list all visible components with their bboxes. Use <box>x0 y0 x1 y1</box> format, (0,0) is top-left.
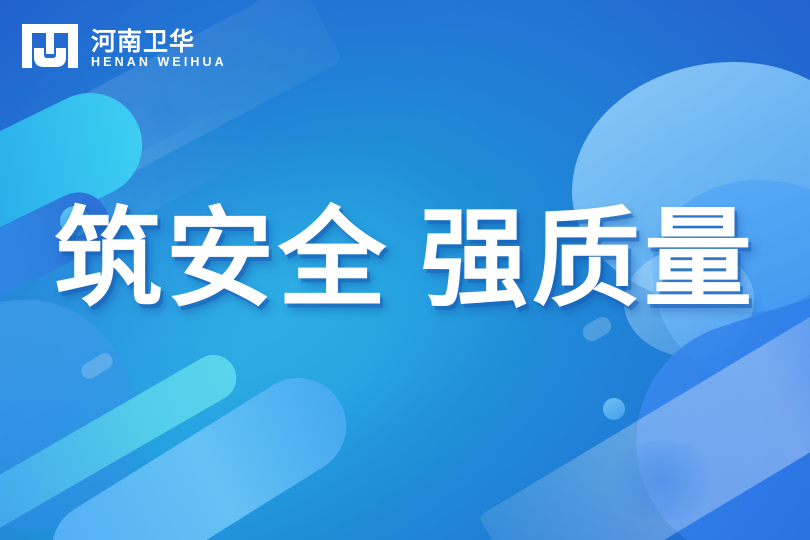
promotional-banner: 河南卫华 HENAN WEIHUA 筑安全强质量 <box>0 0 810 540</box>
headline-slogan: 筑安全强质量 <box>0 196 810 323</box>
logo-text-block: 河南卫华 HENAN WEIHUA <box>91 29 227 69</box>
headline-segment-two: 强质量 <box>420 197 756 322</box>
logo-english-name: HENAN WEIHUA <box>91 56 227 69</box>
band-bottom-right-glow <box>602 440 722 520</box>
headline-segment-one: 筑安全 <box>54 197 390 322</box>
dot-bottom-right <box>603 398 625 420</box>
logo-chinese-name: 河南卫华 <box>91 29 227 54</box>
brand-logo[interactable]: 河南卫华 HENAN WEIHUA <box>22 24 227 73</box>
dot-soft-top-left <box>140 92 194 130</box>
henan-weihua-emblem-icon <box>22 24 78 73</box>
